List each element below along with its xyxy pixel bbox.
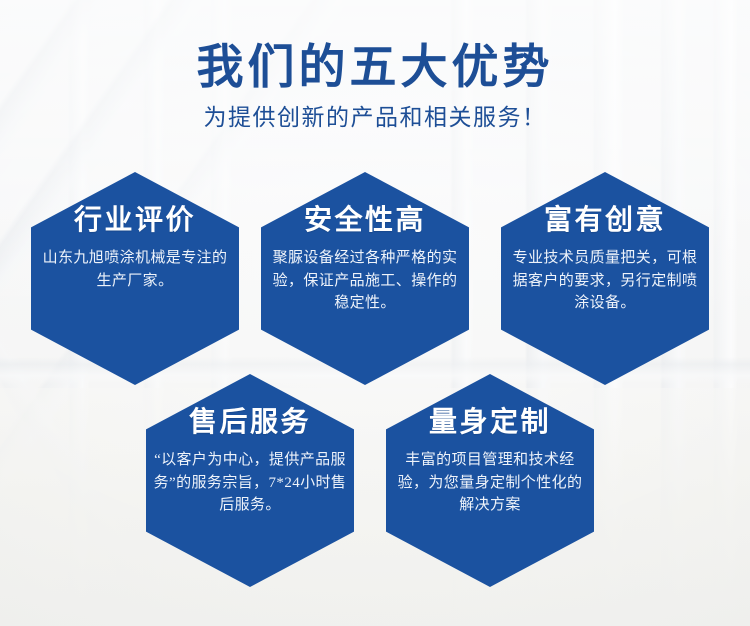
advantage-card-body: 丰富的项目管理和技术经验，为您量身定制个性化的解决方案 bbox=[394, 449, 586, 517]
advantages-banner: 我们的五大优势 为提供创新的产品和相关服务！ 行业评价 山东九旭喷涂机械是专注的… bbox=[0, 0, 750, 626]
advantage-card-title: 量身定制 bbox=[429, 408, 551, 439]
advantage-card-creative[interactable]: 富有创意 专业技术员质量把关，可根据客户的要求，另行定制喷涂设备。 bbox=[501, 172, 709, 385]
advantage-card-title: 售后服务 bbox=[189, 408, 311, 439]
advantage-card-body: “以客户为中心，提供产品服务”的服务宗旨，7*24小时售后服务。 bbox=[153, 449, 347, 517]
banner-heading: 我们的五大优势 为提供创新的产品和相关服务！ bbox=[0, 44, 750, 130]
page-subtitle: 为提供创新的产品和相关服务！ bbox=[0, 105, 750, 130]
advantage-card-industry-reputation[interactable]: 行业评价 山东九旭喷涂机械是专注的生产厂家。 bbox=[31, 172, 239, 385]
advantage-card-body: 专业技术员质量把关，可根据客户的要求，另行定制喷涂设备。 bbox=[509, 247, 701, 315]
advantage-card-body: 山东九旭喷涂机械是专注的生产厂家。 bbox=[42, 247, 228, 293]
advantage-card-title: 行业评价 bbox=[74, 206, 196, 237]
advantage-card-after-sales-service[interactable]: 售后服务 “以客户为中心，提供产品服务”的服务宗旨，7*24小时售后服务。 bbox=[146, 374, 354, 587]
advantage-card-title: 富有创意 bbox=[544, 206, 666, 237]
advantage-card-title: 安全性高 bbox=[304, 206, 426, 237]
advantage-card-custom-tailored[interactable]: 量身定制 丰富的项目管理和技术经验，为您量身定制个性化的解决方案 bbox=[386, 374, 594, 587]
advantage-card-high-safety[interactable]: 安全性高 聚脲设备经过各种严格的实验，保证产品施工、操作的稳定性。 bbox=[261, 172, 469, 385]
page-title: 我们的五大优势 bbox=[0, 44, 750, 94]
advantage-card-body: 聚脲设备经过各种严格的实验，保证产品施工、操作的稳定性。 bbox=[269, 247, 461, 315]
